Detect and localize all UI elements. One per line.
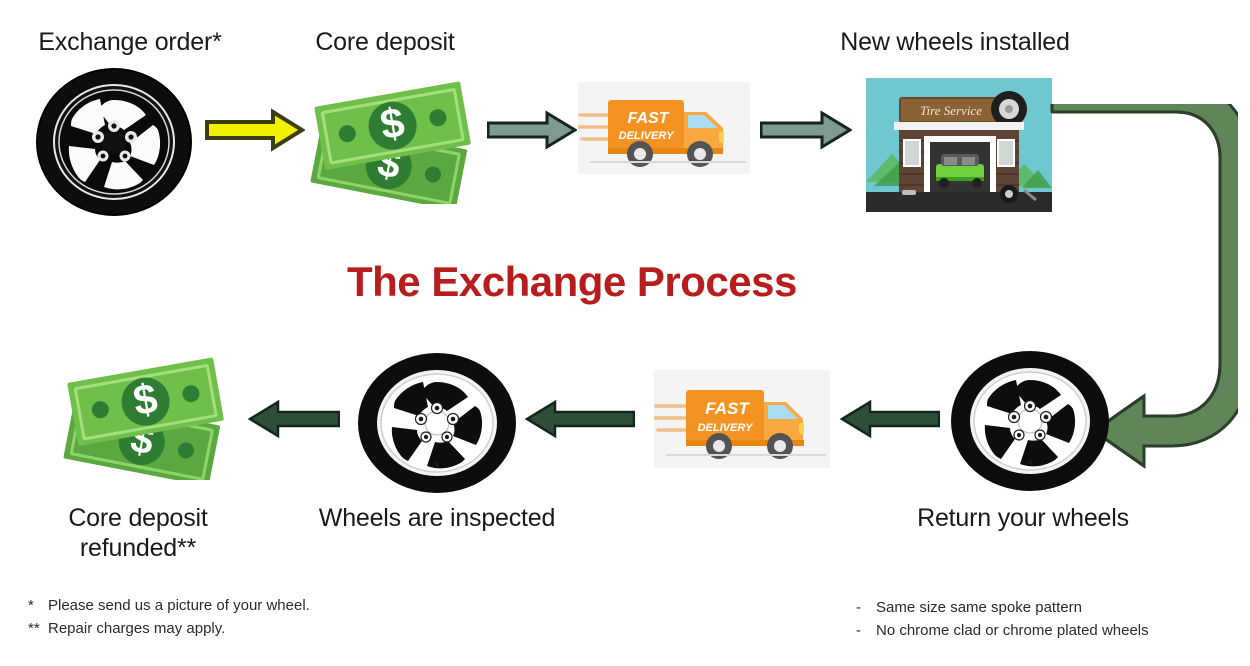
footnote-left-2: **Repair charges may apply.: [28, 617, 310, 640]
arrow-truck-to-inspect: [525, 400, 635, 438]
wheel-silver-icon-return: [950, 350, 1110, 492]
arrow-order-to-deposit: [205, 108, 305, 152]
arrow-inspect-to-refund: [248, 400, 340, 438]
arrow-truck-to-shop: [760, 110, 852, 150]
delivery-truck-icon-outbound: FAST DELIVERY: [578, 82, 750, 174]
label-wheels-are-inspected: Wheels are inspected: [292, 504, 582, 534]
svg-text:FAST: FAST: [705, 399, 750, 418]
label-core-deposit: Core deposit: [285, 28, 485, 58]
label-core-deposit-refunded-line1: Core deposit: [38, 504, 238, 534]
wheel-silver-icon-inspected: [357, 352, 517, 494]
delivery-truck-icon-inbound: FAST DELIVERY: [654, 370, 830, 468]
label-return-your-wheels: Return your wheels: [898, 504, 1148, 534]
footnote-left-2-text: Repair charges may apply.: [48, 620, 225, 637]
footnote-right-2: -No chrome clad or chrome plated wheels: [856, 619, 1149, 642]
footnote-left-2-mark: **: [28, 617, 48, 640]
footnote-right-2-text: No chrome clad or chrome plated wheels: [876, 622, 1149, 639]
label-exchange-order: Exchange order*: [10, 28, 250, 58]
truck-text-delivery: DELIVERY: [619, 130, 675, 142]
footnote-right-2-mark: -: [856, 619, 876, 642]
truck-text-fast: FAST: [628, 110, 670, 127]
wheel-black-icon: [36, 68, 192, 216]
page-title: The Exchange Process: [347, 258, 797, 306]
label-new-wheels-installed: New wheels installed: [805, 28, 1105, 58]
footnote-right-1-mark: -: [856, 596, 876, 619]
footnote-right-1-text: Same size same spoke pattern: [876, 599, 1082, 616]
footnote-left-1: *Please send us a picture of your wheel.: [28, 594, 310, 617]
cash-icon-top: $ $: [305, 76, 477, 204]
label-core-deposit-refunded-line2: refunded**: [38, 534, 238, 564]
tire-service-shop-icon: Tire Service: [866, 78, 1052, 212]
footnote-left-1-mark: *: [28, 594, 48, 617]
footnote-left-1-text: Please send us a picture of your wheel.: [48, 597, 310, 614]
cash-icon-bottom: $ $: [58, 352, 230, 480]
footnotes-right: -Same size same spoke pattern -No chrome…: [856, 596, 1149, 643]
arrow-return-to-truck: [840, 400, 940, 438]
footnote-right-1: -Same size same spoke pattern: [856, 596, 1149, 619]
footnotes-left: *Please send us a picture of your wheel.…: [28, 594, 310, 641]
shop-sign-text: Tire Service: [920, 103, 982, 118]
label-core-deposit-refunded: Core deposit refunded**: [38, 504, 238, 563]
svg-text:DELIVERY: DELIVERY: [698, 422, 754, 434]
exchange-process-diagram: Exchange order* Core deposit New wheels …: [0, 0, 1250, 666]
arrow-deposit-to-truck: [487, 110, 577, 150]
